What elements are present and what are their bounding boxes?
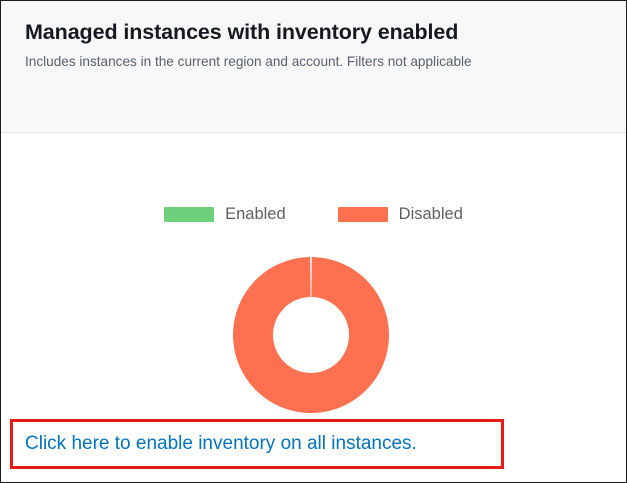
donut-slice-disabled[interactable] — [233, 257, 389, 413]
donut-slice-group — [233, 257, 389, 413]
donut-chart-svg — [233, 257, 389, 413]
legend-item-enabled[interactable]: Enabled — [164, 206, 286, 223]
enable-inventory-link[interactable]: Click here to enable inventory on all in… — [25, 432, 417, 456]
donut-chart[interactable] — [233, 257, 389, 413]
legend-swatch-disabled-icon — [338, 207, 388, 222]
legend-item-disabled[interactable]: Disabled — [338, 206, 463, 223]
page-title: Managed instances with inventory enabled — [25, 19, 602, 45]
panel-subtitle: Includes instances in the current region… — [25, 52, 525, 71]
legend-label-enabled: Enabled — [225, 206, 286, 223]
legend-swatch-enabled-icon — [164, 207, 214, 222]
legend-label-disabled: Disabled — [399, 206, 463, 223]
panel-header: Managed instances with inventory enabled… — [1, 1, 626, 133]
chart-legend: Enabled Disabled — [1, 206, 626, 223]
panel-footer: Click here to enable inventory on all in… — [1, 415, 626, 482]
inventory-widget-panel: Managed instances with inventory enabled… — [0, 0, 627, 483]
